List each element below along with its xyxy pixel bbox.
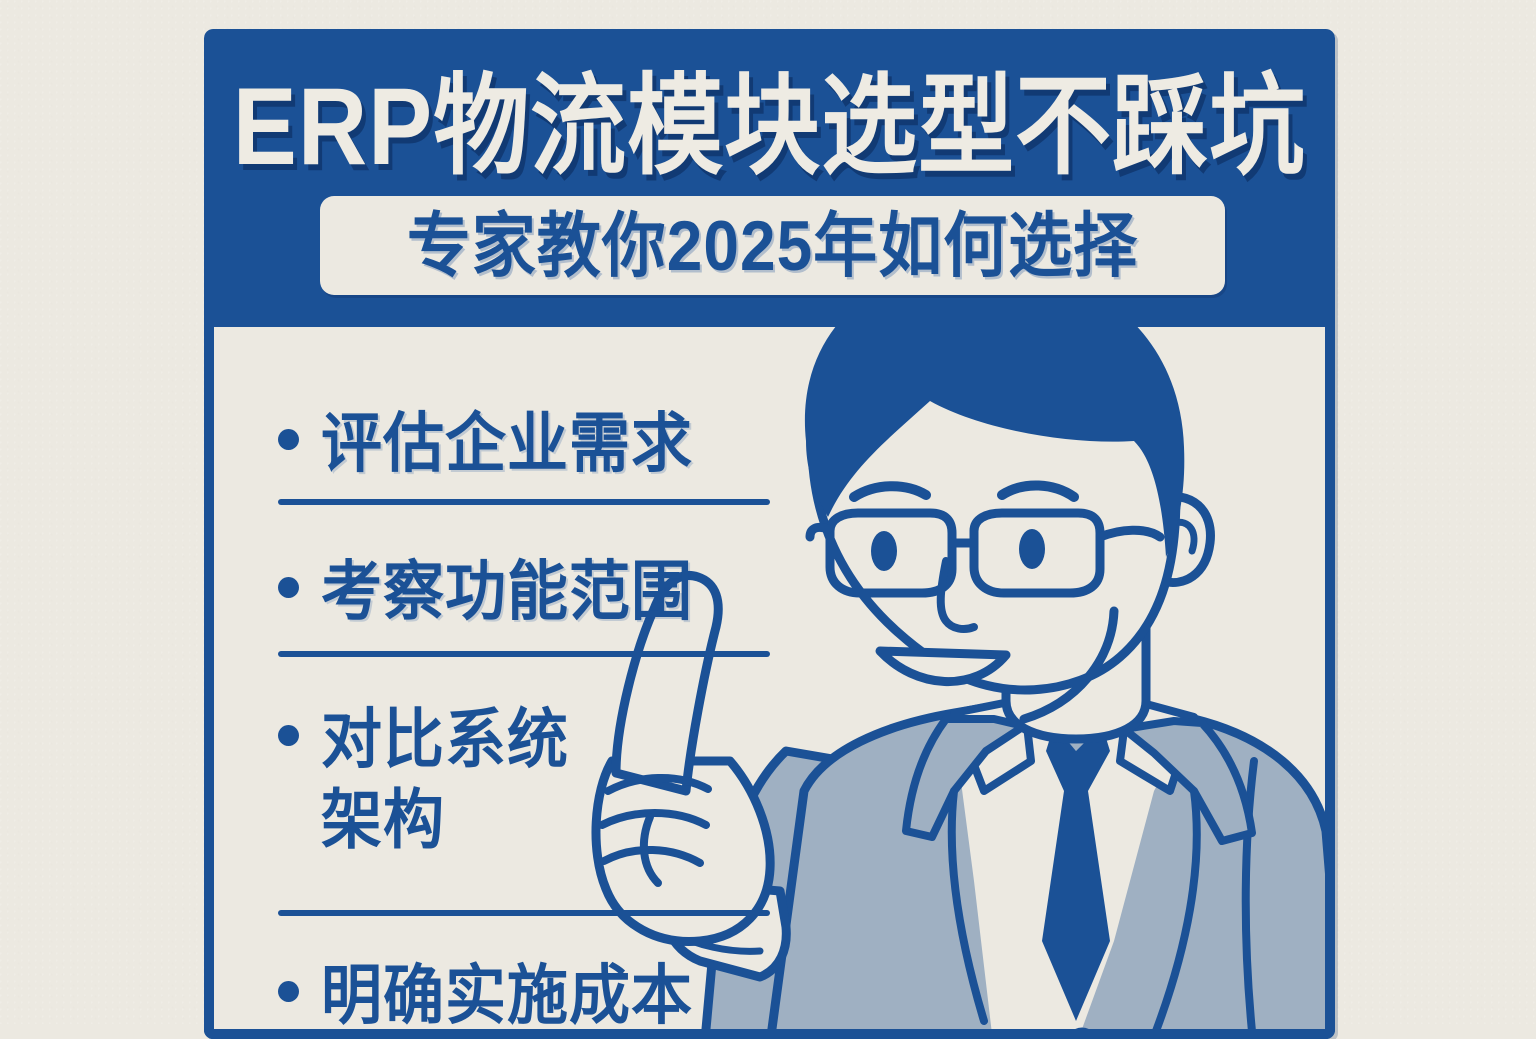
list-item[interactable]: 对比系统 架构 [278,699,569,852]
poster-title: ERP物流模块选型不踩坑 [204,73,1335,182]
bullet-dot-icon [278,981,299,1002]
bullet-dot-icon [278,725,299,746]
bullet-list: 评估企业需求 考察功能范围 对比系统 架构 明确实施成本 [263,327,823,1039]
bullet-dot-icon [278,429,299,450]
subtitle-pill: 专家教你2025年如何选择 [320,196,1225,295]
bullet-label: 评估企业需求 [321,403,693,484]
list-item[interactable]: 评估企业需求 [278,403,693,479]
poster-subtitle: 专家教你2025年如何选择 [407,210,1138,280]
poster-card: ERP物流模块选型不踩坑 专家教你2025年如何选择 [204,29,1335,1039]
bullet-dot-icon [278,577,299,598]
list-item[interactable]: 考察功能范围 [278,551,693,627]
list-item[interactable]: 明确实施成本 [278,955,693,1031]
list-divider [278,910,770,916]
poster-header: ERP物流模块选型不踩坑 专家教你2025年如何选择 [204,29,1335,327]
bullet-label: 考察功能范围 [321,551,693,632]
list-divider [278,651,770,657]
poster-body: 评估企业需求 考察功能范围 对比系统 架构 明确实施成本 [204,327,1335,1039]
bullet-label: 对比系统 架构 [321,699,569,861]
list-divider [278,499,770,505]
